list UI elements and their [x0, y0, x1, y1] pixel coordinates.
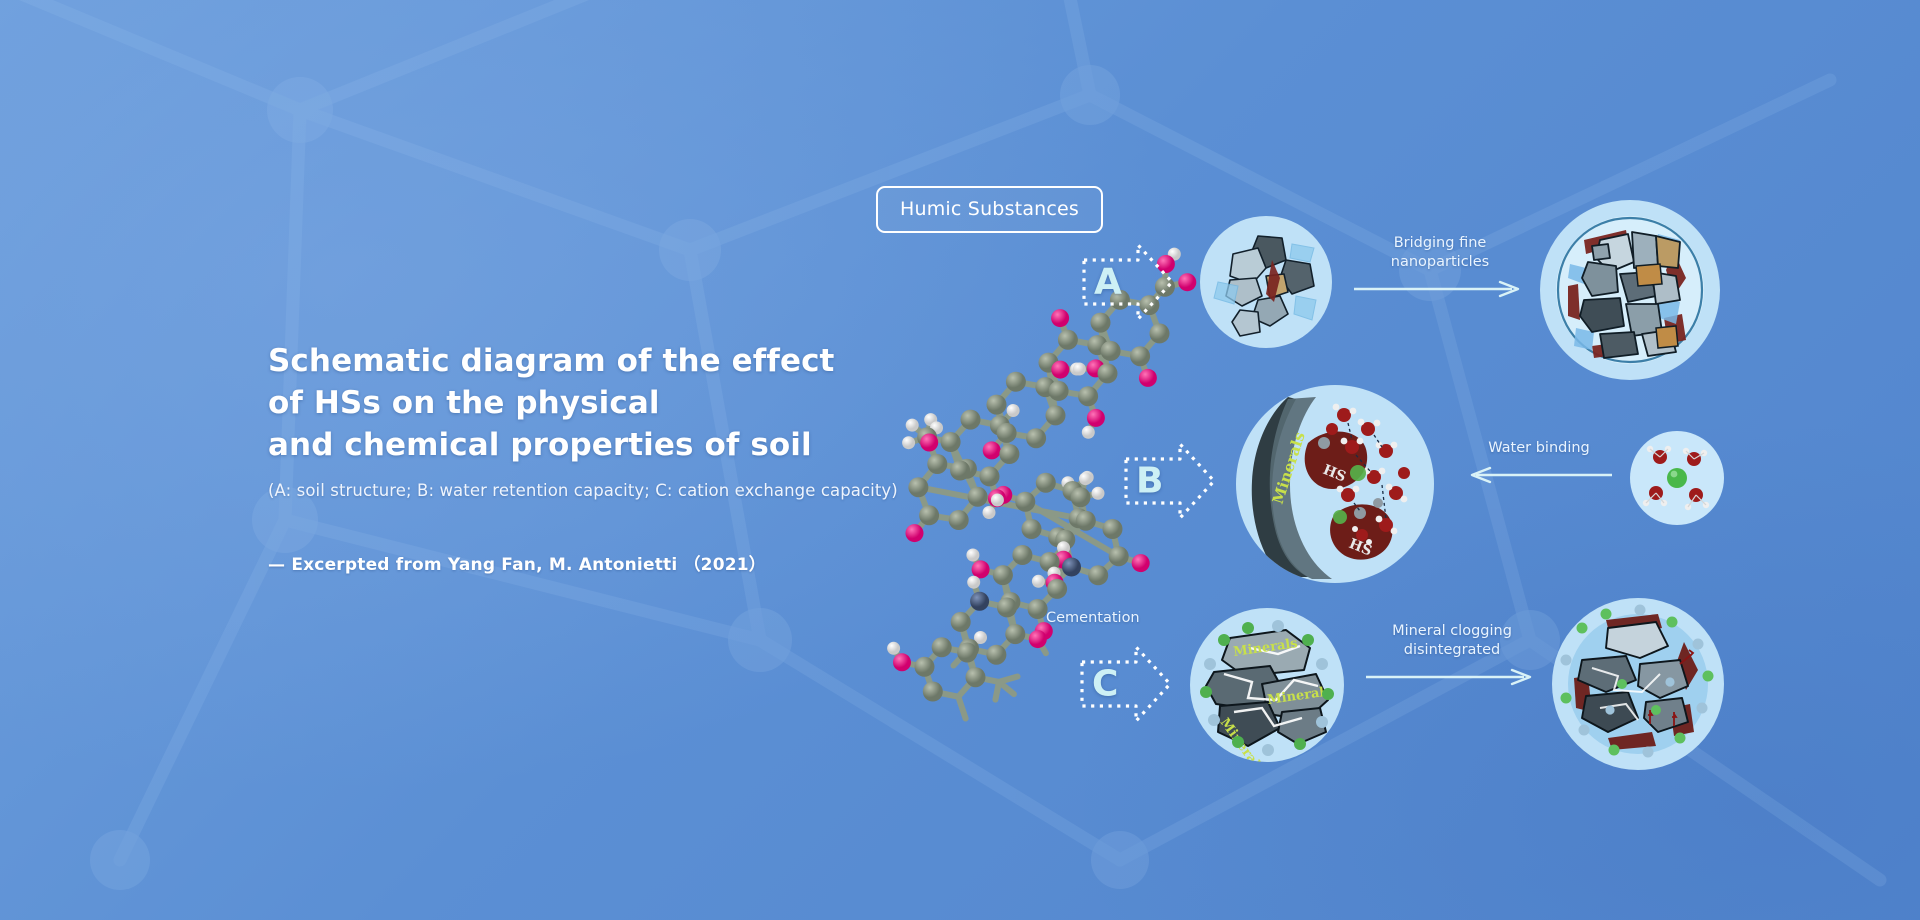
transition-a: Bridging fine nanoparticles	[1352, 234, 1528, 298]
left-text-panel: Schematic diagram of the effect of HSs o…	[268, 340, 908, 575]
bubble-loose-soil-particles	[1200, 216, 1332, 348]
arrow-left-b	[1464, 466, 1614, 484]
bubble-disintegrated-mineral-cation-exchange	[1552, 598, 1724, 770]
bubble-mineral-clogged-aggregate: Minerals Minerals Minerals	[1190, 608, 1344, 762]
transition-b: Water binding	[1464, 439, 1614, 484]
stage-letter-c: C	[1092, 664, 1118, 705]
transition-c-line-2: disintegrated	[1364, 641, 1540, 660]
label-cementation: Cementation	[1046, 610, 1140, 626]
transition-b-line-1: Water binding	[1464, 439, 1614, 458]
row-cation-exchange: Cementation C	[840, 600, 1920, 795]
title-line-2: of HSs on the physical	[268, 382, 908, 424]
bubble-hs-mineral-water-retention: Minerals HS HS	[1236, 385, 1434, 583]
arrow-right-c	[1364, 668, 1540, 686]
page-title: Schematic diagram of the effect of HSs o…	[268, 340, 908, 466]
row-water-retention: B Minerals HS HS	[840, 395, 1920, 595]
title-line-1: Schematic diagram of the effect	[268, 340, 908, 382]
arrow-right-a	[1352, 280, 1528, 298]
bubble-hydrated-cation-water-cluster	[1630, 431, 1724, 525]
attribution-line: — Excerpted from Yang Fan, M. Antonietti…	[268, 550, 908, 575]
row-soil-structure: A B	[840, 200, 1920, 390]
stage-letter-a: A	[1094, 262, 1122, 303]
page-subtitle: (A: soil structure; B: water retention c…	[268, 481, 908, 500]
transition-c: Mineral clogging disintegrated	[1364, 622, 1540, 686]
transition-c-line-1: Mineral clogging	[1364, 622, 1540, 641]
figure-diagram: Humic Substances A	[840, 120, 1920, 800]
bubble-bridged-soil-aggregate	[1540, 200, 1720, 380]
stage-letter-b: B	[1136, 461, 1163, 502]
stage-letter-c-wrap: C	[1078, 642, 1174, 726]
title-line-3: and chemical properties of soil	[268, 424, 908, 466]
transition-a-line-2: nanoparticles	[1352, 253, 1528, 272]
stage-letter-a-wrap: A	[1080, 240, 1176, 324]
transition-a-line-1: Bridging fine	[1352, 234, 1528, 253]
stage-letter-b-wrap: B	[1122, 439, 1218, 523]
